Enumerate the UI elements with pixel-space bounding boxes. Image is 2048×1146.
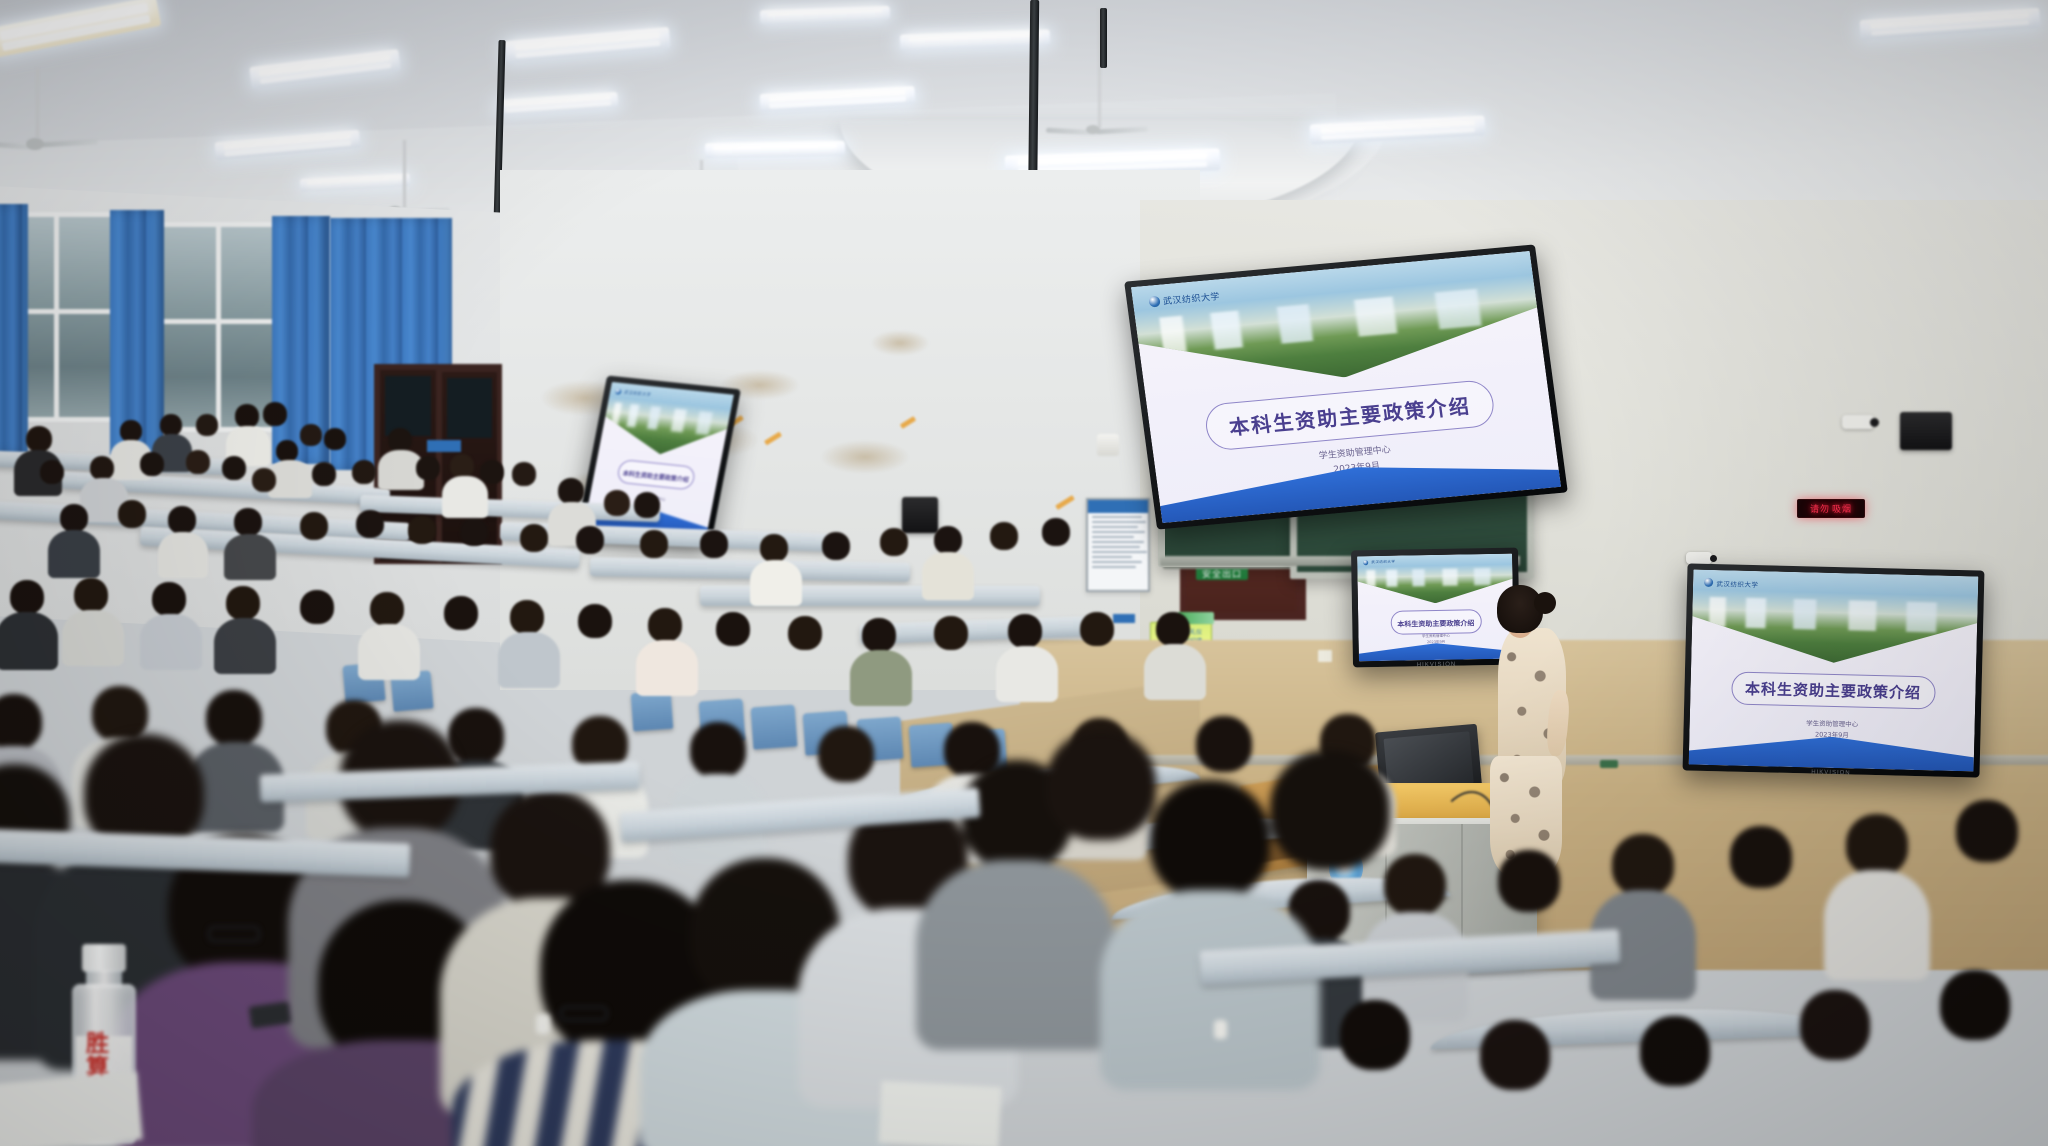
student-head: [370, 592, 404, 626]
student-head: [312, 462, 336, 486]
student-body: [1100, 890, 1320, 1090]
student-head: [822, 532, 850, 560]
student-head: [576, 526, 604, 554]
student-head: [934, 616, 968, 650]
student-head: [90, 456, 114, 480]
student-head: [1008, 614, 1042, 648]
student-earbud: [1214, 1020, 1227, 1039]
student-head: [222, 456, 246, 480]
student-head: [512, 462, 536, 486]
student-head: [760, 534, 788, 562]
university-crest-icon: [1363, 560, 1368, 565]
student-head: [324, 428, 346, 450]
student-head: [1730, 826, 1792, 888]
wall-stain: [870, 330, 930, 356]
student-earbud: [536, 1014, 550, 1034]
slide-university-logo: 武汉纺织大学: [1704, 578, 1758, 589]
slide-content: 武汉纺织大学 本科生资助主要政策介绍 学生资助管理中心 2023年9月: [1357, 554, 1514, 662]
student-body: [916, 860, 1116, 1050]
student-head: [300, 512, 328, 540]
slide-title-text: 本科生资助主要政策介绍: [1397, 619, 1474, 628]
student-head: [450, 454, 474, 478]
student-glasses: [560, 1006, 608, 1021]
student-head: [480, 460, 504, 484]
led-notice-sign: 请勿 吸烟: [1797, 499, 1865, 518]
student-head: [1800, 990, 1870, 1060]
university-crest-icon: [615, 388, 622, 395]
student-head: [186, 450, 210, 474]
student-head: [558, 478, 584, 504]
student-head: [862, 618, 896, 652]
bottle-cap-icon: [82, 944, 126, 972]
student-body: [1824, 870, 1930, 980]
student-head: [700, 530, 728, 558]
podium-screen-surface: 武汉纺织大学 本科生资助主要政策介绍 学生资助管理中心 2023年9月: [1357, 554, 1514, 662]
student-head: [234, 508, 262, 536]
paper-sheet: [878, 1081, 1001, 1146]
student-head: [716, 612, 750, 646]
student-glasses: [208, 926, 260, 942]
student-head: [356, 510, 384, 538]
ceiling-fan: [0, 136, 90, 152]
student-head: [640, 530, 668, 558]
security-camera: [1842, 415, 1874, 429]
slide-content: 武汉纺织大学 本科生资助主要政策介绍 学生资助管理中心 2023年9月: [1131, 251, 1561, 523]
student-head: [444, 596, 478, 630]
university-crest-icon: [1704, 578, 1713, 587]
student-head: [1270, 750, 1390, 870]
student-head: [300, 424, 322, 446]
slide-title-pill: 本科生资助主要政策介绍: [1731, 672, 1936, 710]
student-head: [1156, 612, 1190, 646]
student-head: [74, 578, 108, 612]
student-head: [118, 500, 146, 528]
student-body: [62, 610, 124, 666]
ceiling-fan: [1062, 124, 1142, 136]
student-head: [578, 604, 612, 638]
slide-university-logo: 武汉纺织大学: [1363, 560, 1395, 566]
student-head: [1480, 1020, 1550, 1090]
student-head: [990, 522, 1018, 550]
student-head: [1612, 834, 1674, 896]
student-head: [263, 402, 287, 426]
ceiling-fan-rod: [403, 140, 406, 208]
student-head: [520, 524, 548, 552]
student-head: [1498, 850, 1560, 912]
student-head: [60, 504, 88, 532]
student-head: [140, 452, 164, 476]
student-head: [1940, 970, 2010, 1040]
ceiling-fan-rod: [36, 68, 39, 138]
student-head: [1046, 730, 1156, 840]
slide-logo-text: 武汉纺织大学: [1716, 578, 1758, 589]
led-sign-text-2: 吸烟: [1832, 502, 1852, 515]
ceiling-lamp: [705, 141, 845, 158]
student-head: [196, 414, 218, 436]
student-head: [300, 590, 334, 624]
classroom-camera: [1686, 552, 1712, 564]
paper-sheet: [0, 1072, 143, 1146]
university-crest-icon: [1148, 295, 1160, 307]
student-head: [1846, 814, 1908, 876]
presenter-hair-bun: [1534, 592, 1556, 614]
eraser: [1600, 760, 1618, 768]
student-head: [1080, 612, 1114, 646]
right-screen-surface: 武汉纺织大学 本科生资助主要政策介绍 学生资助管理中心 2023年9月: [1689, 570, 1979, 772]
main-screen-surface: 武汉纺织大学 本科生资助主要政策介绍 学生资助管理中心 2023年9月: [1131, 251, 1561, 523]
monitor-brand-label: HIKVISION: [1811, 769, 1850, 776]
student-head: [934, 526, 962, 554]
student-head: [206, 690, 262, 746]
student-head: [416, 456, 440, 480]
student-head: [510, 600, 544, 634]
student-head: [1640, 1016, 1710, 1086]
student-head: [120, 420, 142, 442]
student-head: [26, 426, 52, 452]
wall-display-right[interactable]: 武汉纺织大学 本科生资助主要政策介绍 学生资助管理中心 2023年9月 HIKV…: [1683, 563, 1985, 777]
student-head: [408, 516, 436, 544]
student-head: [160, 414, 182, 436]
student-head: [604, 490, 630, 516]
student-head: [1042, 518, 1070, 546]
slide-title-text: 本科生资助主要政策介绍: [1745, 680, 1921, 702]
wall-speaker: [1900, 412, 1952, 450]
student-head: [235, 404, 259, 428]
student-head: [276, 440, 298, 462]
student-head: [880, 528, 908, 556]
display-suspension-pole: [1100, 8, 1107, 68]
student-head: [40, 460, 64, 484]
student-head: [1956, 800, 2018, 862]
student-head: [388, 428, 412, 452]
student-head: [352, 460, 376, 484]
audience-foreground-cluster: [0, 740, 1400, 1146]
student-head: [460, 518, 488, 546]
podium-display[interactable]: 武汉纺织大学 本科生资助主要政策介绍 学生资助管理中心 2023年9月 HIKV…: [1351, 548, 1520, 668]
student-head: [152, 582, 186, 616]
slide-content: 武汉纺织大学 本科生资助主要政策介绍 学生资助管理中心 2023年9月: [1689, 570, 1979, 772]
lecture-hall-photo: 安全出口 文明上课讲礼仪 爱护公物守纪律 请勿 吸烟: [0, 0, 2048, 1146]
student-body: [442, 476, 488, 518]
slide-logo-text: 武汉纺织大学: [1371, 560, 1395, 565]
student-head: [648, 608, 682, 642]
student-head: [1150, 780, 1270, 900]
student-head: [788, 616, 822, 650]
led-sign-text-1: 请勿: [1810, 502, 1830, 515]
student-head: [252, 468, 276, 492]
student-head: [634, 492, 660, 518]
student-head: [226, 586, 260, 620]
student-head: [168, 506, 196, 534]
slide-title-pill: 本科生资助主要政策介绍: [1390, 609, 1481, 635]
main-projection-screen[interactable]: 武汉纺织大学 本科生资助主要政策介绍 学生资助管理中心 2023年9月: [1124, 244, 1568, 529]
slide-title-text: 本科生资助主要政策介绍: [1228, 394, 1472, 440]
student-head: [10, 580, 44, 614]
